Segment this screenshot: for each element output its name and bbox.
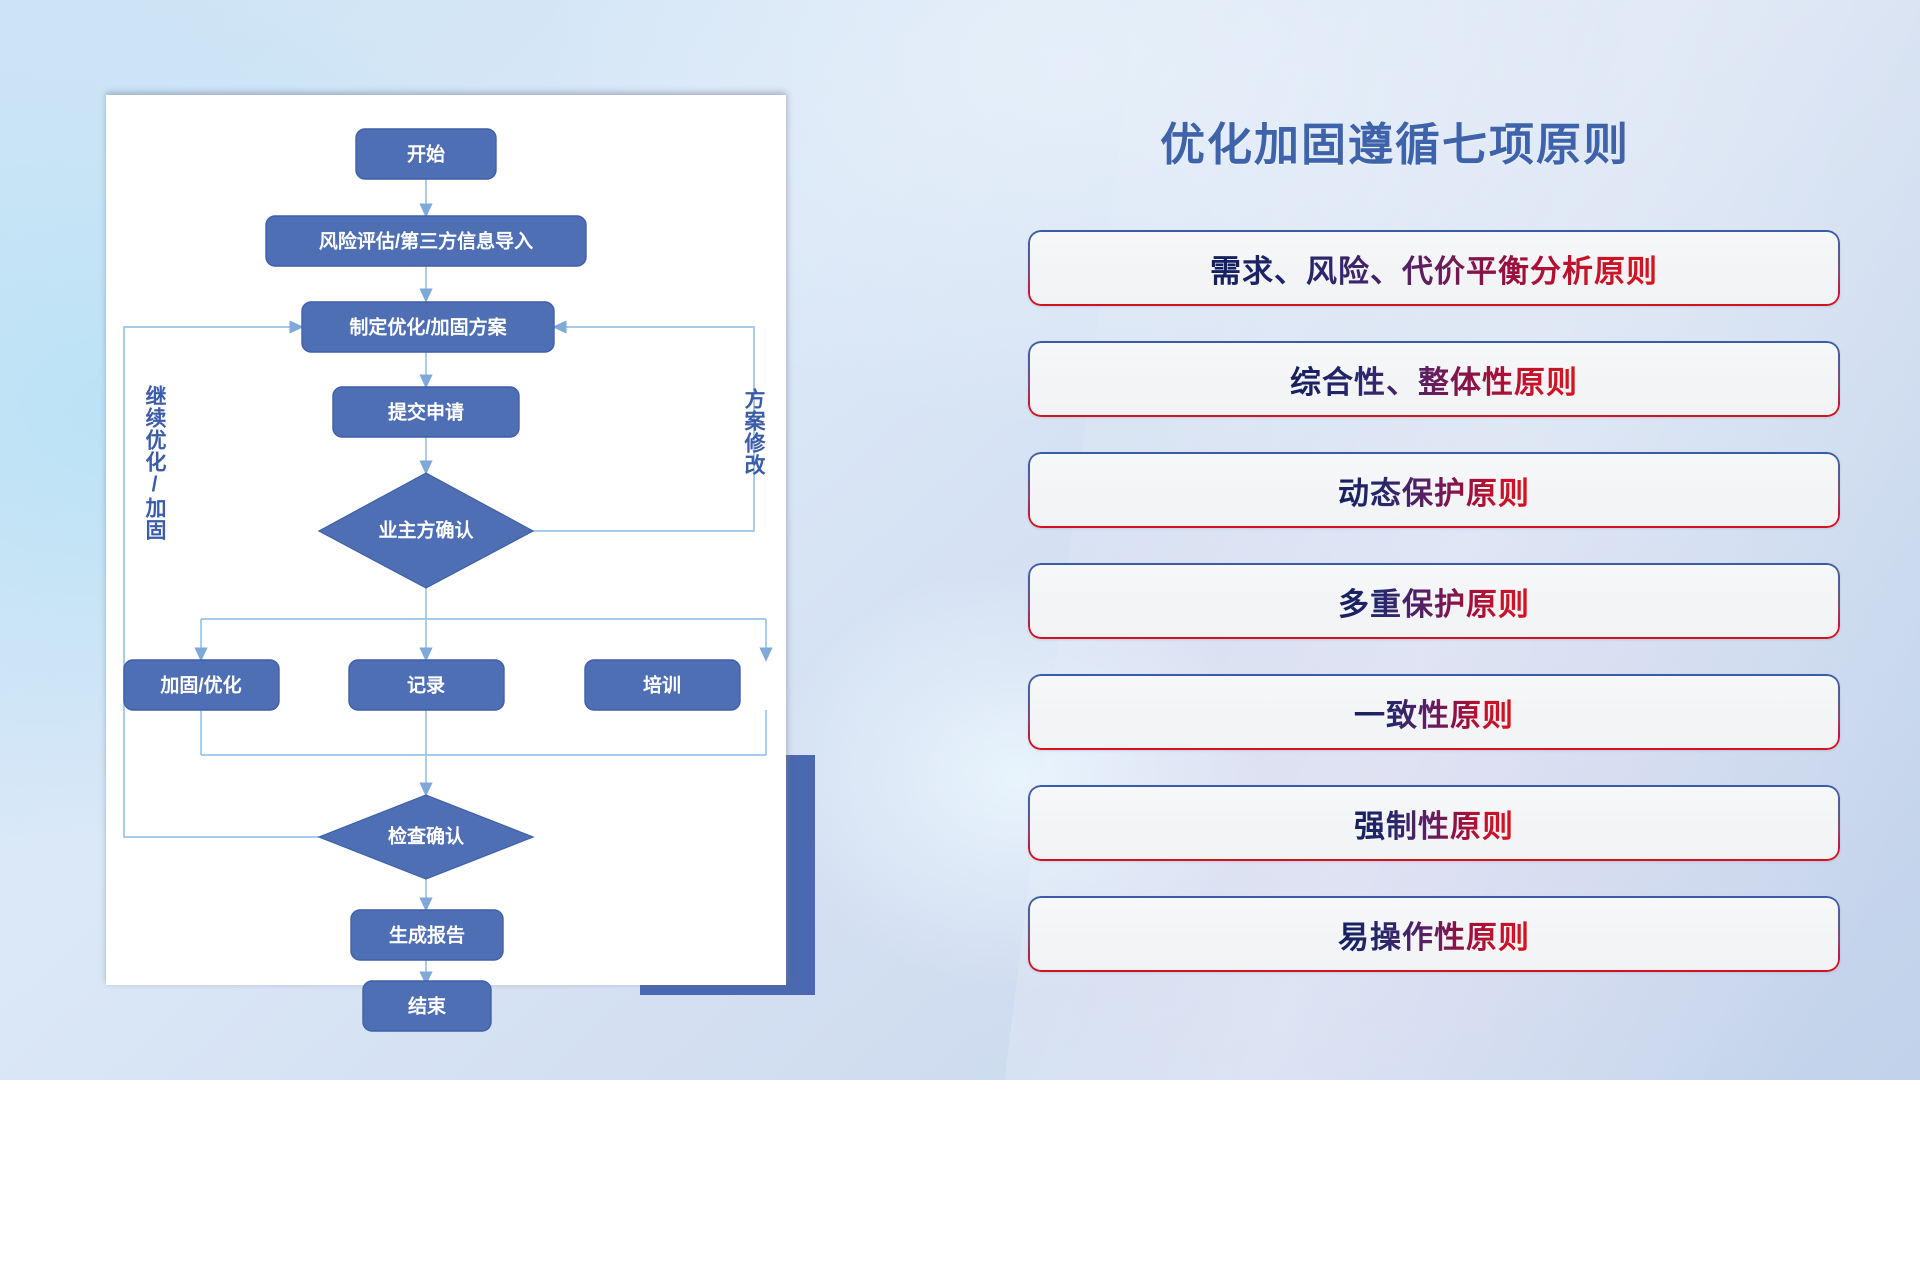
- flow-node-training: 培训: [585, 660, 740, 710]
- flowchart-diagram: 开始 风险评估/第三方信息导入 制定优化/加固方案 提交申请 业主方确认 加固/…: [106, 95, 786, 985]
- principle-label: 综合性、整体性原则: [1290, 357, 1578, 402]
- flow-node-end: 结束: [106, 975, 786, 1045]
- principle-label: 多重保护原则: [1338, 579, 1530, 624]
- flow-node-label: 检查确认: [388, 825, 464, 848]
- flow-node-label: 记录: [407, 675, 445, 697]
- flow-node-label: 业主方确认: [378, 519, 473, 542]
- flow-node-label: 结束: [408, 995, 447, 1018]
- principle-card[interactable]: 一致性原则: [1028, 674, 1840, 750]
- principle-label: 需求、风险、代价平衡分析原则: [1210, 246, 1658, 291]
- principle-label: 动态保护原则: [1338, 468, 1530, 513]
- flow-node-check-confirm: 检查确认: [319, 795, 533, 879]
- principles-panel: 优化加固遵循七项原则 需求、风险、代价平衡分析原则 综合性、整体性原则 动态保护…: [1020, 90, 1860, 1000]
- flow-node-plan: 制定优化/加固方案: [302, 302, 554, 352]
- edge-label-plan-revision: 方案修改: [742, 388, 764, 476]
- principle-label: 易操作性原则: [1338, 912, 1530, 957]
- flow-node-reinforce: 加固/优化: [124, 660, 279, 710]
- principle-card[interactable]: 多重保护原则: [1028, 563, 1840, 639]
- principle-card[interactable]: 强制性原则: [1028, 785, 1840, 861]
- flow-node-record: 记录: [349, 660, 504, 710]
- principle-card[interactable]: 易操作性原则: [1028, 896, 1840, 972]
- flow-node-label: 加固/优化: [159, 674, 241, 697]
- principles-list: 需求、风险、代价平衡分析原则 综合性、整体性原则 动态保护原则 多重保护原则 一…: [1028, 230, 1840, 1007]
- flow-node-label: 提交申请: [388, 401, 464, 424]
- page-title: 优化加固遵循七项原则: [1160, 108, 1630, 173]
- flow-node-label: 风险评估/第三方信息导入: [319, 230, 533, 253]
- principle-card[interactable]: 综合性、整体性原则: [1028, 341, 1840, 417]
- flow-node-label: 培训: [643, 674, 681, 697]
- flow-node-report: 生成报告: [351, 910, 503, 960]
- flow-node-submit: 提交申请: [333, 387, 519, 437]
- flow-node-owner-confirm: 业主方确认: [319, 473, 533, 588]
- edge-label-continue-optimize: 继续优化/加固: [143, 385, 165, 541]
- principle-label: 一致性原则: [1354, 690, 1514, 735]
- flow-node-label: 开始: [407, 143, 445, 166]
- principle-card[interactable]: 动态保护原则: [1028, 452, 1840, 528]
- flow-node-risk: 风险评估/第三方信息导入: [266, 216, 586, 266]
- flowchart-card: 开始 风险评估/第三方信息导入 制定优化/加固方案 提交申请 业主方确认 加固/…: [106, 95, 786, 985]
- flow-node-start: 开始: [356, 129, 496, 179]
- flow-node-label: 生成报告: [389, 924, 465, 947]
- principle-card[interactable]: 需求、风险、代价平衡分析原则: [1028, 230, 1840, 306]
- flow-node-label: 制定优化/加固方案: [349, 316, 507, 339]
- principle-label: 强制性原则: [1354, 801, 1514, 846]
